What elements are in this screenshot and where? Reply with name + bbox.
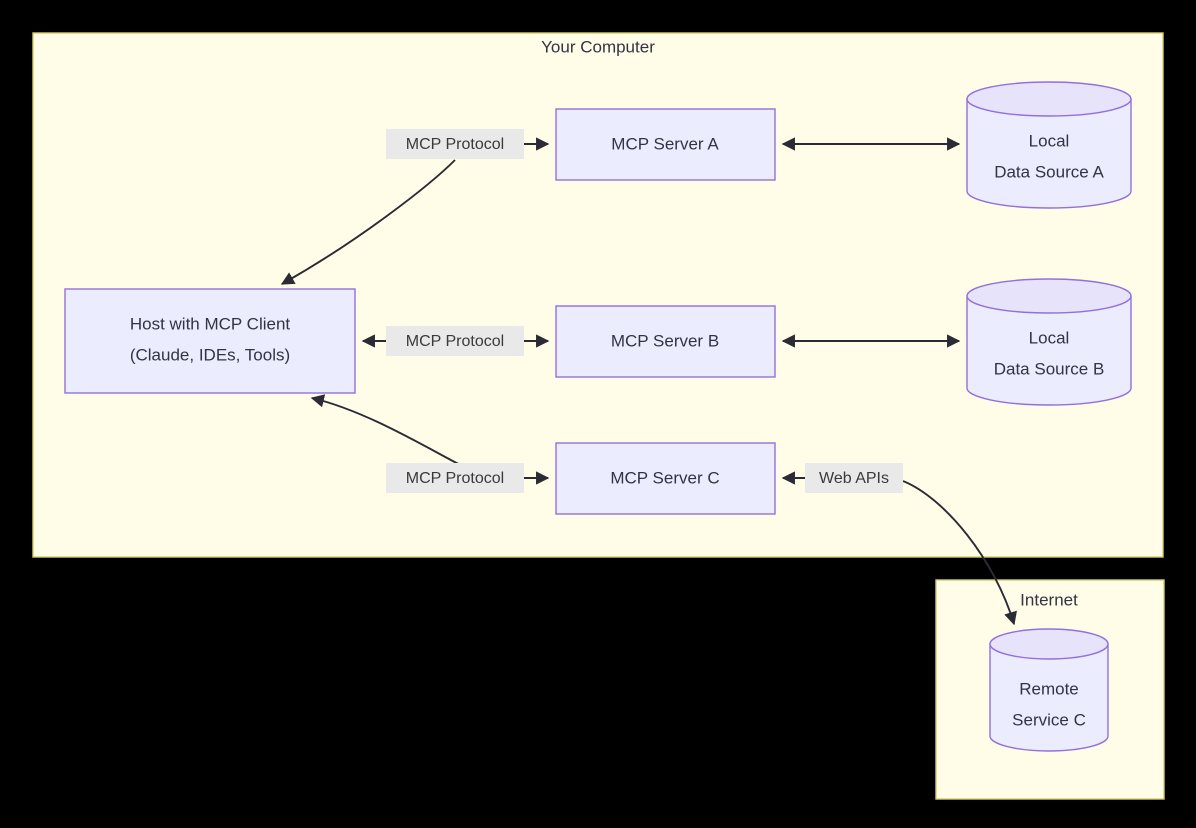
- host-label-line1: Host with MCP Client: [130, 314, 291, 333]
- node-server-a[interactable]: MCP Server A: [556, 109, 775, 180]
- your-computer-title: Your Computer: [541, 37, 655, 56]
- mcp-architecture-diagram: Your Computer Internet Host with MCP Cli…: [0, 0, 1196, 828]
- remote-c-label-line1: Remote: [1019, 679, 1079, 698]
- edge-label-a-text: MCP Protocol: [406, 136, 504, 153]
- node-host[interactable]: Host with MCP Client (Claude, IDEs, Tool…: [65, 289, 355, 393]
- remote-c-label-line2: Service C: [1012, 710, 1086, 729]
- source-b-label-line1: Local: [1029, 328, 1070, 347]
- host-box[interactable]: [65, 289, 355, 393]
- edge-label-c-text: MCP Protocol: [406, 470, 504, 487]
- source-a-cylinder-top: [967, 82, 1131, 116]
- host-label-line2: (Claude, IDEs, Tools): [130, 345, 290, 364]
- source-b-label-line2: Data Source B: [994, 359, 1105, 378]
- node-server-b[interactable]: MCP Server B: [556, 306, 775, 377]
- edge-label-host-server-a: MCP Protocol: [386, 129, 524, 159]
- node-remote-c[interactable]: Remote Service C: [990, 629, 1108, 751]
- server-b-label: MCP Server B: [611, 331, 719, 350]
- server-c-label: MCP Server C: [610, 468, 719, 487]
- source-a-label-line1: Local: [1029, 131, 1070, 150]
- source-b-cylinder-top: [967, 279, 1131, 313]
- edge-label-web-apis: Web APIs: [805, 463, 903, 493]
- remote-c-cylinder-top: [990, 629, 1108, 659]
- node-server-c[interactable]: MCP Server C: [556, 443, 775, 514]
- source-a-label-line2: Data Source A: [994, 162, 1104, 181]
- edge-label-b-text: MCP Protocol: [406, 333, 504, 350]
- server-a-label: MCP Server A: [611, 134, 719, 153]
- internet-title: Internet: [1020, 590, 1078, 609]
- node-source-b[interactable]: Local Data Source B: [967, 279, 1131, 405]
- edge-label-host-server-b: MCP Protocol: [386, 326, 524, 356]
- edge-label-webapis-text: Web APIs: [819, 470, 889, 487]
- diagram-canvas: Your Computer Internet Host with MCP Cli…: [0, 0, 1196, 828]
- edge-label-host-server-c: MCP Protocol: [386, 463, 524, 493]
- node-source-a[interactable]: Local Data Source A: [967, 82, 1131, 208]
